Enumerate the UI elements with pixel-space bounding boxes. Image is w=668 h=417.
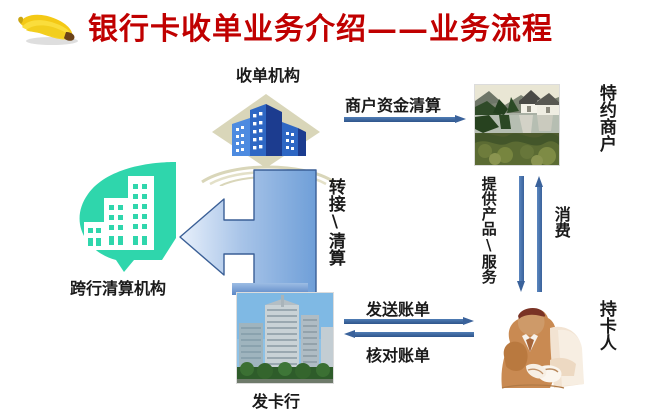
cottage-lake-photo — [474, 84, 560, 166]
node-label-clearing: 跨行清算机构 — [70, 275, 166, 299]
slide-title-bar: 银行卡收单业务介绍——业务流程 — [0, 0, 668, 52]
arrow-check-bill — [344, 330, 474, 339]
arrow-consumption — [535, 176, 544, 292]
flow-label-consumption: 消费 — [552, 206, 569, 238]
slide-canvas: 银行卡收单业务介绍——业务流程 收单机构 — [0, 0, 668, 417]
flow-label-merchant-settlement: 商户资金清算 — [345, 92, 441, 116]
node-label-issuer: 发卡行 — [252, 388, 300, 412]
node-label-cardholder: 持卡人 — [596, 300, 614, 351]
page-title: 银行卡收单业务介绍——业务流程 — [88, 4, 553, 48]
arrow-provide-goods — [517, 176, 526, 292]
node-label-acquirer: 收单机构 — [236, 62, 300, 86]
flow-label-provide-goods: 提供产品\服务 — [480, 176, 496, 284]
businessman-illustration — [492, 300, 596, 392]
arrow-merchant-settlement — [344, 115, 466, 124]
green-office-building-icon — [72, 160, 190, 272]
flow-label-check-bill: 核对账单 — [366, 342, 430, 366]
node-label-merchant: 特约商户 — [596, 84, 614, 152]
flow-label-switch-clearing: 转接\清算 — [325, 178, 343, 266]
skyscraper-photo — [236, 292, 334, 384]
banana-bunch-icon — [14, 10, 86, 46]
arrow-send-bill — [344, 317, 474, 326]
